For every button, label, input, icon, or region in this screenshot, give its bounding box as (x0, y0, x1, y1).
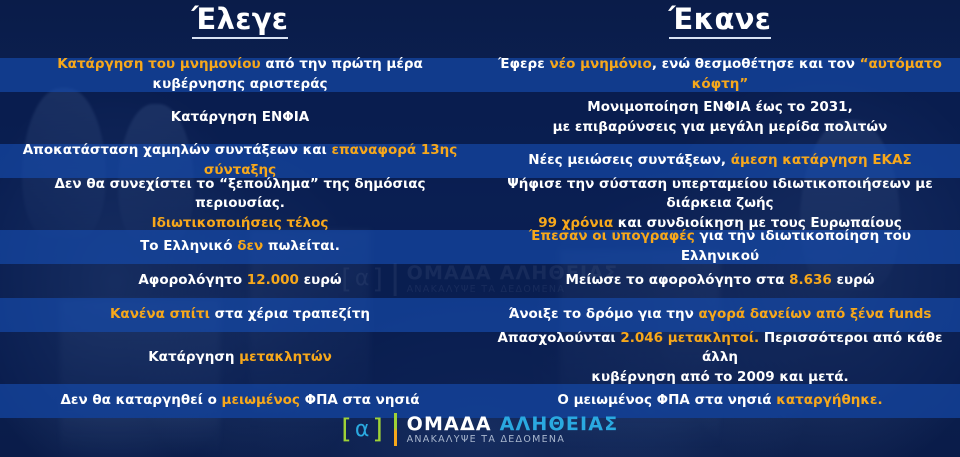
cell-text-block: Άνοιξε το δρόμο για την αγορά δανείων απ… (509, 305, 932, 325)
plain-text: , ενώ θεσμοθέτησε και τον (652, 56, 860, 72)
highlighted-text: νέο μνημόνιο (549, 56, 651, 72)
plain-text: με επιβαρύνσεις για μεγάλη μερίδα πολιτώ… (553, 119, 888, 135)
cell-text-block: Κανένα σπίτι στα χέρια τραπεζίτη (110, 305, 370, 325)
comparison-row: Κανένα σπίτι στα χέρια τραπεζίτηΆνοιξε τ… (0, 298, 960, 332)
plain-text: Απασχολούνται (497, 330, 620, 346)
comparison-cell-did: Έφερε νέο μνημόνιο, ενώ θεσμοθέτησε και … (480, 58, 960, 92)
cell-text-block: Δεν θα συνεχίστει το “ξεπούλημα” της δημ… (14, 175, 466, 234)
bracket-left-icon: [ (341, 416, 353, 443)
plain-text: ευρώ (299, 272, 342, 288)
highlighted-text: 8.636 (789, 272, 832, 288)
highlighted-text: 12.000 (247, 272, 299, 288)
plain-text: Κατάργηση ΕΝΦΙΑ (171, 109, 309, 125)
cell-text-line: Κατάργηση ΕΝΦΙΑ (171, 108, 309, 128)
highlighted-text: 2.046 μετακλητοί. (620, 330, 759, 346)
comparison-cell-did: Μείωσε το αφορολόγητο στα 8.636 ευρώ (480, 264, 960, 298)
highlighted-text: Κανένα σπίτι (110, 306, 210, 322)
alpha-glyph-icon: α (353, 419, 373, 441)
brand-logo-title: ΟΜΑΔΑ ΑΛΗΘΕΙΑΣ (407, 414, 619, 435)
plain-text: Κατάργηση (148, 349, 239, 365)
comparison-cell-said: Κατάργηση του μνημονίου από την πρώτη μέ… (0, 58, 480, 92)
highlighted-text: δεν (237, 238, 263, 254)
footer-branding: [ α ] ΟΜΑΔΑ ΑΛΗΘΕΙΑΣ ΑΝΑΚΑΛΥΨΕ ΤΑ ΔΕΔΟΜΕ… (0, 402, 960, 457)
cell-text-line: Αφορολόγητο 12.000 ευρώ (138, 271, 341, 291)
comparison-row: Δεν θα συνεχίστει το “ξεπούλημα” της δημ… (0, 178, 960, 230)
plain-text: Μείωσε το αφορολόγητο στα (565, 272, 789, 288)
header-cell-right: Έκανε (480, 0, 960, 58)
cell-text-line: Το Ελληνικό δεν πωλείται. (140, 237, 340, 257)
plain-text: Νέες μειώσεις συντάξεων, (528, 152, 730, 168)
comparison-row: Το Ελληνικό δεν πωλείται.Έπεσαν οι υπογρ… (0, 230, 960, 264)
cell-text-block: Κατάργηση ΕΝΦΙΑ (171, 108, 309, 128)
cell-text-block: Ψήφισε την σύσταση υπερταμείου ιδιωτικοπ… (494, 175, 946, 234)
cell-text-block: Νέες μειώσεις συντάξεων, άμεση κατάργηση… (528, 151, 911, 171)
header-title-did: Έκανε (669, 4, 771, 39)
comparison-cell-said: Κατάργηση ΕΝΦΙΑ (0, 92, 480, 144)
plain-text: πωλείται. (263, 238, 340, 254)
cell-text-line: Δεν θα συνεχίστει το “ξεπούλημα” της δημ… (14, 175, 466, 214)
comparison-cell-did: Έπεσαν οι υπογραφές για την ιδιωτικοποίη… (480, 230, 960, 264)
highlighted-text: Ιδιωτικοποιήσεις τέλος (152, 215, 329, 231)
comparison-cell-did: Ψήφισε την σύσταση υπερταμείου ιδιωτικοπ… (480, 178, 960, 230)
brand-logo-title-plain: ΟΜΑΔΑ (407, 413, 500, 435)
infographic-root: [ α ] ΟΜΑΔΑ ΑΛΗΘΕΙΑΣ ΑΝΑΚΑΛΥΨΕ ΤΑ ΔΕΔΟΜΕ… (0, 0, 960, 457)
comparison-cell-said: Αφορολόγητο 12.000 ευρώ (0, 264, 480, 298)
cell-text-block: Μείωσε το αφορολόγητο στα 8.636 ευρώ (565, 271, 874, 291)
header-title-said: Έλεγε (192, 4, 288, 39)
comparison-row: Κατάργηση μετακλητώνΑπασχολούνται 2.046 … (0, 332, 960, 384)
plain-text: Δεν θα συνεχίστει το “ξεπούλημα” της δημ… (54, 176, 425, 212)
brand-logo-title-accent: ΑΛΗΘΕΙΑΣ (500, 413, 619, 435)
comparison-cell-said: Αποκατάσταση χαμηλών συντάξεων και επανα… (0, 144, 480, 178)
highlighted-text: Έπεσαν οι υπογραφές (529, 228, 695, 244)
cell-text-line: Μείωσε το αφορολόγητο στα 8.636 ευρώ (565, 271, 874, 291)
header-cell-left: Έλεγε (0, 0, 480, 58)
cell-text-block: Αφορολόγητο 12.000 ευρώ (138, 271, 341, 291)
comparison-cell-did: Μονιμοποίηση ΕΝΦΙΑ έως το 2031,με επιβαρ… (480, 92, 960, 144)
cell-text-line: Έπεσαν οι υπογραφές για την ιδιωτικοποίη… (494, 227, 946, 266)
cell-text-line: Έφερε νέο μνημόνιο, ενώ θεσμοθέτησε και … (494, 55, 946, 94)
comparison-cell-said: Το Ελληνικό δεν πωλείται. (0, 230, 480, 264)
cell-text-line: Κατάργηση του μνημονίου από την πρώτη μέ… (14, 55, 466, 94)
plain-text: Αφορολόγητο (138, 272, 246, 288)
comparison-row: Αφορολόγητο 12.000 ευρώΜείωσε το αφορολό… (0, 264, 960, 298)
highlighted-text: Κατάργηση του μνημονίου (57, 56, 260, 72)
plain-text: Αποκατάσταση χαμηλών συντάξεων και (23, 142, 332, 158)
comparison-row: Αποκατάσταση χαμηλών συντάξεων και επανα… (0, 144, 960, 178)
comparison-cell-did: Άνοιξε το δρόμο για την αγορά δανείων απ… (480, 298, 960, 332)
plain-text: ευρώ (832, 272, 875, 288)
brand-logo[interactable]: [ α ] ΟΜΑΔΑ ΑΛΗΘΕΙΑΣ ΑΝΑΚΑΛΥΨΕ ΤΑ ΔΕΔΟΜΕ… (342, 413, 619, 447)
plain-text: Άνοιξε το δρόμο για την (509, 306, 699, 322)
comparison-cell-said: Δεν θα συνεχίστει το “ξεπούλημα” της δημ… (0, 178, 480, 230)
plain-text: Μονιμοποίηση ΕΝΦΙΑ έως το 2031, (587, 99, 852, 115)
column-headers: Έλεγε Έκανε (0, 0, 960, 58)
cell-text-block: Απασχολούνται 2.046 μετακλητοί. Περισσότ… (494, 329, 946, 388)
comparison-rows: Κατάργηση του μνημονίου από την πρώτη μέ… (0, 58, 960, 418)
cell-text-line: Άνοιξε το δρόμο για την αγορά δανείων απ… (509, 305, 932, 325)
plain-text: στα χέρια τραπεζίτη (210, 306, 370, 322)
brand-logo-subtitle: ΑΝΑΚΑΛΥΨΕ ΤΑ ΔΕΔΟΜΕΝΑ (407, 434, 619, 445)
comparison-cell-said: Κανένα σπίτι στα χέρια τραπεζίτη (0, 298, 480, 332)
brand-logo-mark: [ α ] (342, 413, 384, 447)
plain-text: κυβέρνηση από το 2009 και μετά. (591, 369, 848, 385)
cell-text-block: Το Ελληνικό δεν πωλείται. (140, 237, 340, 257)
plain-text: Έφερε (498, 56, 549, 72)
cell-text-line: Κανένα σπίτι στα χέρια τραπεζίτη (110, 305, 370, 325)
cell-text-block: Μονιμοποίηση ΕΝΦΙΑ έως το 2031,με επιβαρ… (553, 98, 888, 137)
comparison-cell-did: Νέες μειώσεις συντάξεων, άμεση κατάργηση… (480, 144, 960, 178)
cell-text-line: Απασχολούνται 2.046 μετακλητοί. Περισσότ… (494, 329, 946, 368)
brand-logo-divider (394, 413, 397, 446)
cell-text-block: Έφερε νέο μνημόνιο, ενώ θεσμοθέτησε και … (494, 55, 946, 94)
highlighted-text: άμεση κατάργηση ΕΚΑΣ (731, 152, 912, 168)
plain-text: Το Ελληνικό (140, 238, 237, 254)
cell-text-line: Νέες μειώσεις συντάξεων, άμεση κατάργηση… (528, 151, 911, 171)
cell-text-block: Κατάργηση μετακλητών (148, 348, 332, 368)
highlighted-text: μετακλητών (239, 349, 332, 365)
comparison-row: Κατάργηση του μνημονίου από την πρώτη μέ… (0, 58, 960, 92)
comparison-row: Κατάργηση ΕΝΦΙΑΜονιμοποίηση ΕΝΦΙΑ έως το… (0, 92, 960, 144)
brand-logo-text: ΟΜΑΔΑ ΑΛΗΘΕΙΑΣ ΑΝΑΚΑΛΥΨΕ ΤΑ ΔΕΔΟΜΕΝΑ (407, 414, 619, 446)
plain-text: Ψήφισε την σύσταση υπερταμείου ιδιωτικοπ… (507, 176, 932, 212)
cell-text-block: Έπεσαν οι υπογραφές για την ιδιωτικοποίη… (494, 227, 946, 266)
bracket-right-icon: ] (372, 416, 384, 443)
comparison-cell-did: Απασχολούνται 2.046 μετακλητοί. Περισσότ… (480, 332, 960, 384)
highlighted-text: αγορά δανείων από ξένα funds (699, 306, 932, 322)
plain-text: για την ιδιωτικοποίηση του Ελληνικού (681, 228, 911, 264)
cell-text-block: Κατάργηση του μνημονίου από την πρώτη μέ… (14, 55, 466, 94)
cell-text-line: Κατάργηση μετακλητών (148, 348, 332, 368)
comparison-cell-said: Κατάργηση μετακλητών (0, 332, 480, 384)
cell-text-line: με επιβαρύνσεις για μεγάλη μερίδα πολιτώ… (553, 118, 888, 138)
cell-text-line: Μονιμοποίηση ΕΝΦΙΑ έως το 2031, (553, 98, 888, 118)
cell-text-line: Ψήφισε την σύσταση υπερταμείου ιδιωτικοπ… (494, 175, 946, 214)
